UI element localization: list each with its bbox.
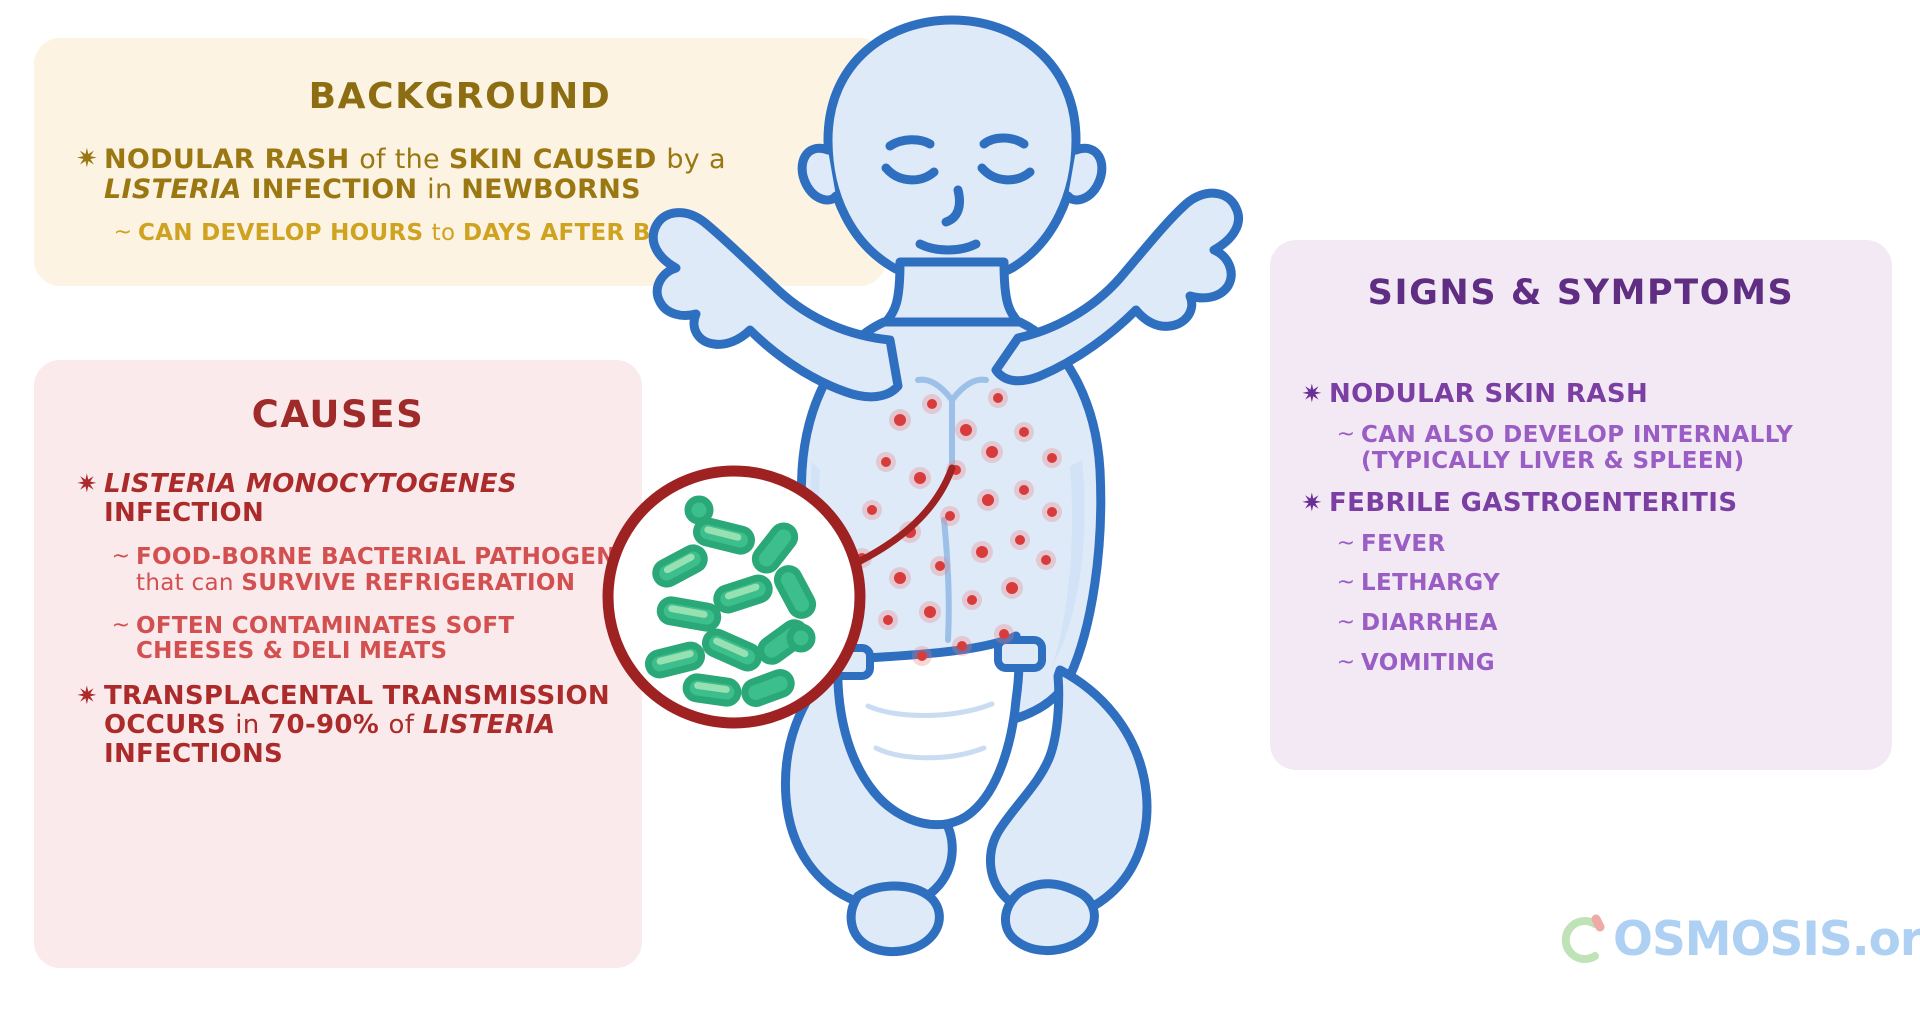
symptoms_panel-bullet-text: VOMITING [1361,651,1495,677]
causes-panel-title: CAUSES [34,393,642,436]
symptoms_panel-bullet-text: FEBRILE GASTROENTERITIS [1329,489,1738,518]
symptoms_panel-bullet: ~CAN ALSO DEVELOP INTERNALLY (TYPICALLY … [1295,423,1885,475]
symptoms_panel-bullet: ~DIARRHEA [1295,611,1885,637]
bacteria-magnifier-icon [600,463,868,731]
tilde-bullet-icon: ~ [1331,423,1361,448]
tilde-bullet-icon: ~ [106,614,136,639]
asterisk-bullet-icon: ✷ [70,145,104,174]
tilde-bullet-icon: ~ [1331,651,1361,676]
asterisk-bullet-icon: ✷ [1295,489,1329,517]
symptoms_panel-bullet: ✷NODULAR SKIN RASH [1295,380,1885,409]
tilde-bullet-icon: ~ [108,221,138,246]
causes_panel-bullet: ~FOOD-BORNE BACTERIAL PATHOGEN that can … [70,545,630,597]
asterisk-bullet-icon: ✷ [70,682,104,710]
symptoms_panel-bullet-text: DIARRHEA [1361,611,1498,637]
asterisk-bullet-icon: ✷ [1295,380,1329,408]
symptoms_panel-bullet: ~VOMITING [1295,651,1885,677]
causes_panel-bullet: ✷LISTERIA MONOCYTOGENES INFECTION [70,470,630,528]
infographic-canvas: BACKGROUND ✷NODULAR RASH of the SKIN CAU… [0,0,1920,1010]
tilde-bullet-icon: ~ [106,545,136,570]
symptoms-bullet-list: ✷NODULAR SKIN RASH~CAN ALSO DEVELOP INTE… [1295,380,1885,677]
symptoms_panel-bullet-text: CAN ALSO DEVELOP INTERNALLY (TYPICALLY L… [1361,423,1885,475]
causes_panel-bullet-text: LISTERIA MONOCYTOGENES INFECTION [104,470,630,528]
causes_panel-bullet-text: TRANSPLACENTAL TRANSMISSION OCCURS in 70… [104,682,630,769]
symptoms_panel-bullet-text: FEVER [1361,532,1446,558]
causes-bullet-list: ✷LISTERIA MONOCYTOGENES INFECTION~FOOD-B… [70,470,630,770]
causes_panel-bullet: ~OFTEN CONTAMINATES SOFT CHEESES & DELI … [70,614,630,666]
tilde-bullet-icon: ~ [1331,571,1361,596]
symptoms-panel-title: SIGNS & SYMPTOMS [1270,273,1892,313]
causes_panel-bullet-text: FOOD-BORNE BACTERIAL PATHOGEN that can S… [136,545,630,597]
osmosis-ring-icon [1555,913,1609,967]
asterisk-bullet-icon: ✷ [70,470,104,498]
symptoms_panel-bullet-text: LETHARGY [1361,571,1500,597]
symptoms_panel-bullet: ✷FEBRILE GASTROENTERITIS [1295,489,1885,518]
symptoms_panel-bullet: ~FEVER [1295,532,1885,558]
tilde-bullet-icon: ~ [1331,532,1361,557]
osmosis-logo[interactable]: OSMOSIS.org [1555,912,1920,967]
symptoms_panel-bullet-text: NODULAR SKIN RASH [1329,380,1648,409]
causes_panel-bullet: ✷TRANSPLACENTAL TRANSMISSION OCCURS in 7… [70,682,630,769]
causes_panel-bullet-text: OFTEN CONTAMINATES SOFT CHEESES & DELI M… [136,614,630,666]
osmosis-logo-text: OSMOSIS.org [1613,912,1920,967]
tilde-bullet-icon: ~ [1331,611,1361,636]
symptoms_panel-bullet: ~LETHARGY [1295,571,1885,597]
